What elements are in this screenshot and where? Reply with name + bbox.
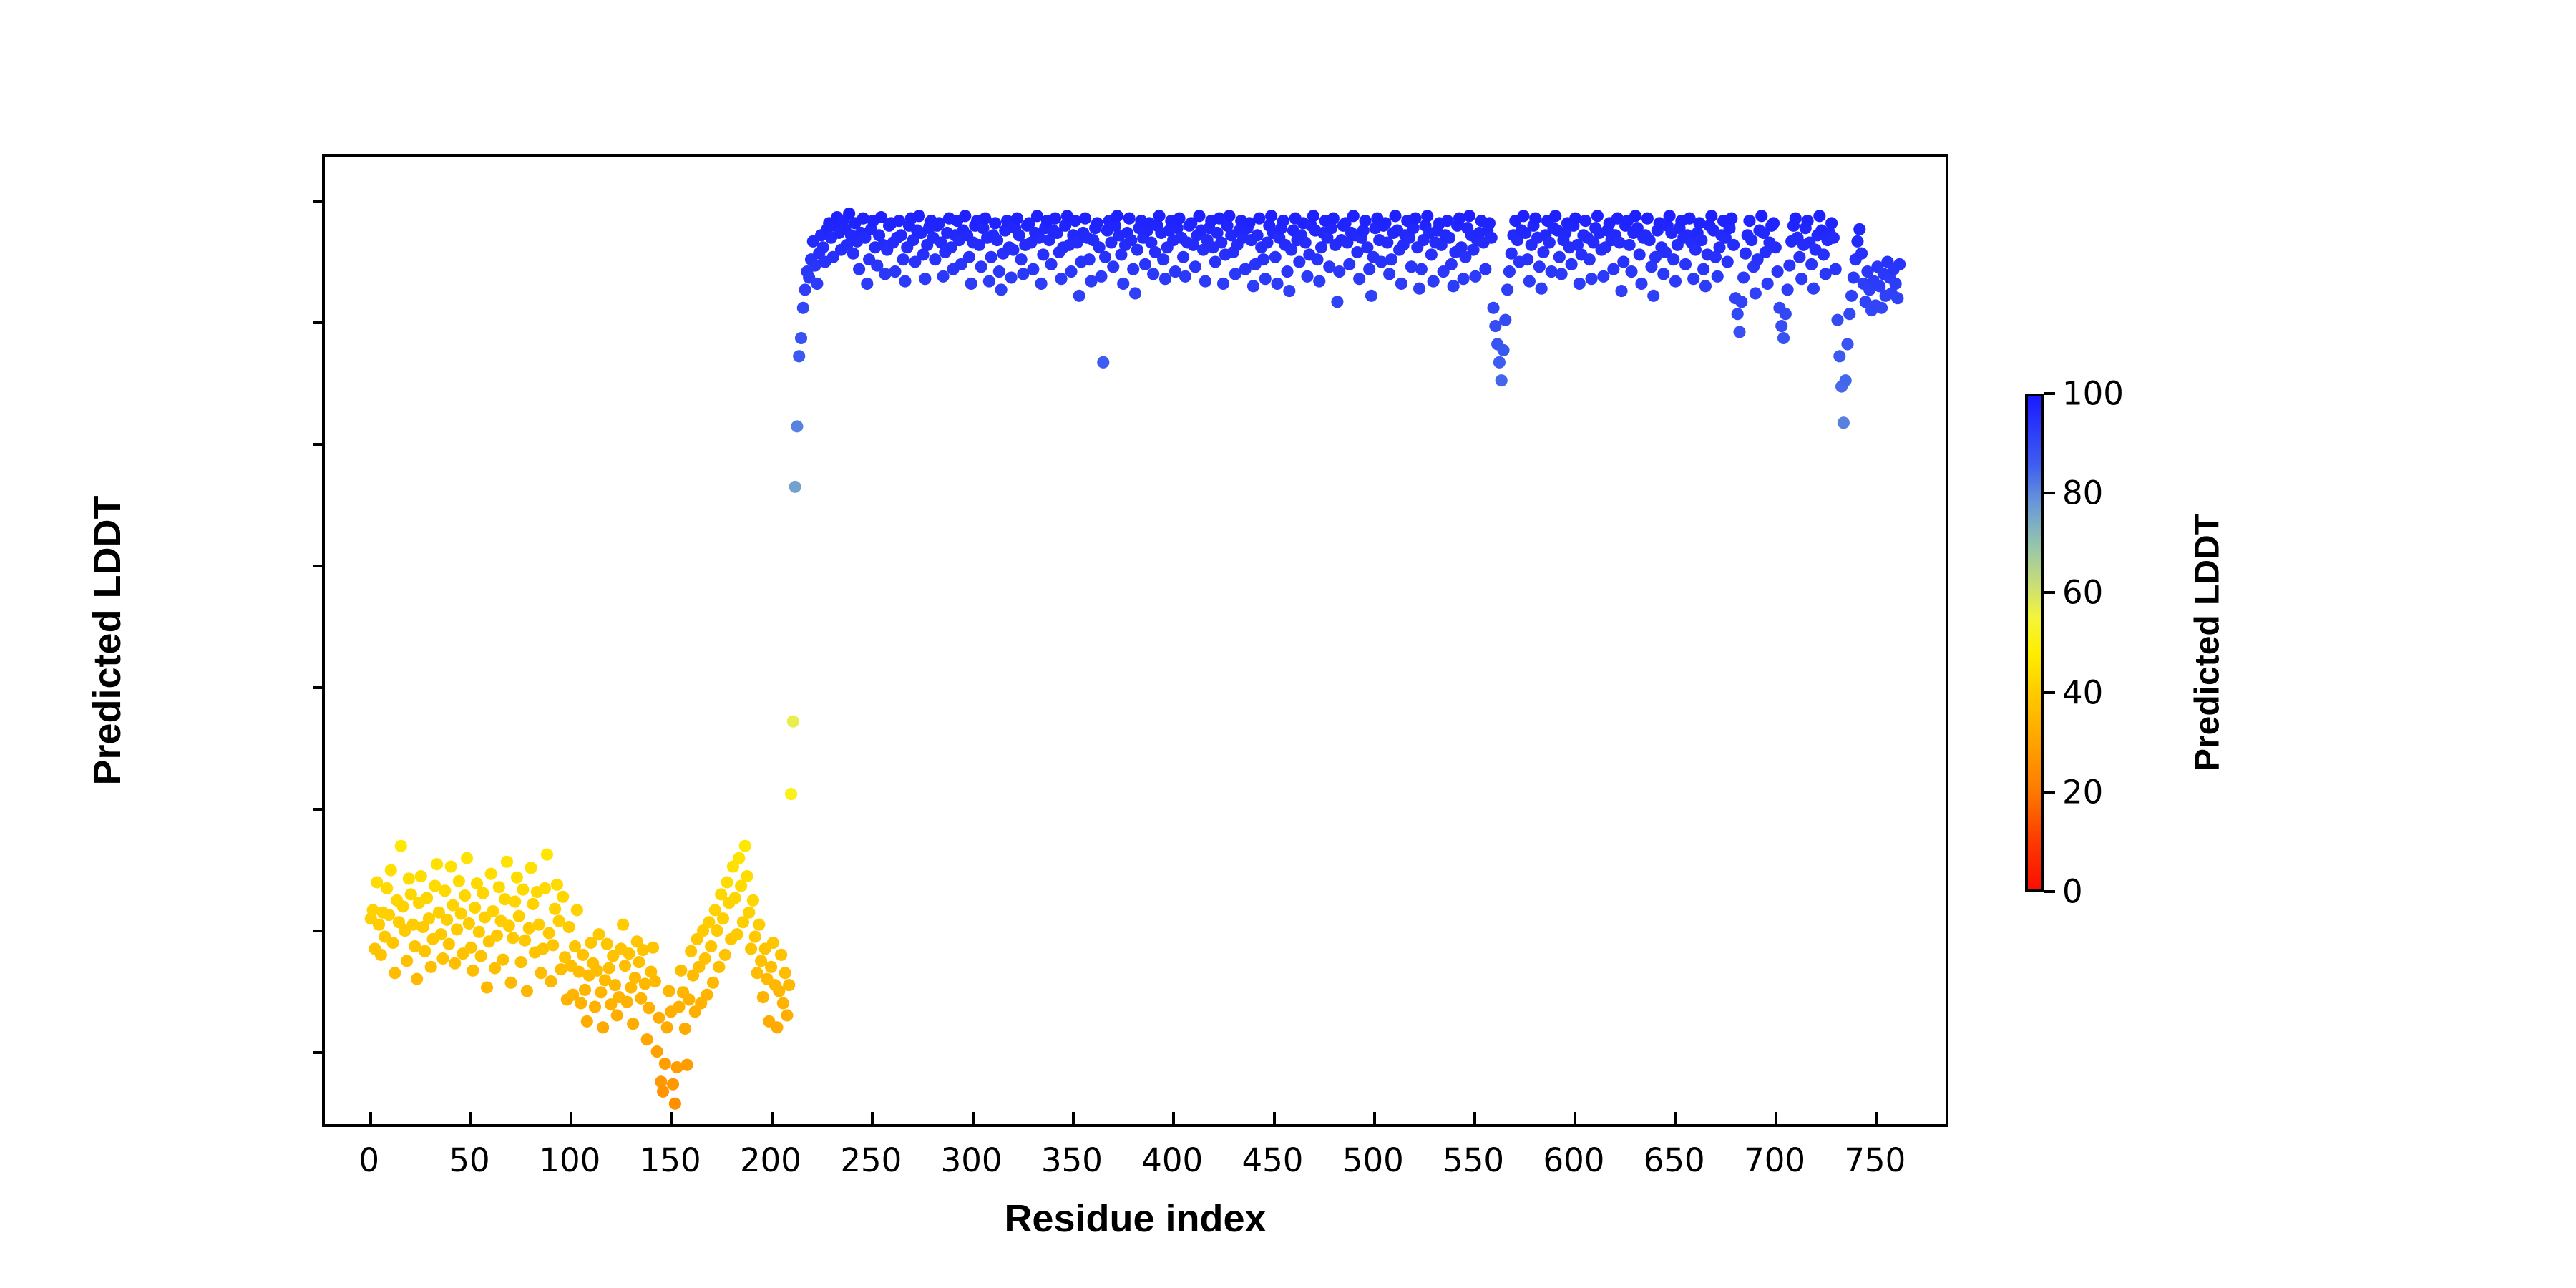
colorbar-tick-label: 0 xyxy=(2062,873,2083,911)
plot-axes: 30405060708090100 0501001502002503003504… xyxy=(322,154,1948,1127)
x-tick-label: 400 xyxy=(1141,1141,1203,1179)
x-tick-label: 450 xyxy=(1242,1141,1304,1179)
pldddt-scatter-figure: 30405060708090100 0501001502002503003504… xyxy=(0,0,2576,1288)
x-tick-label: 350 xyxy=(1041,1141,1103,1179)
x-tick-label: 100 xyxy=(539,1141,600,1179)
x-tick-label: 300 xyxy=(941,1141,1002,1179)
y-tick-mark xyxy=(313,808,325,811)
colorbar-tick-label: 20 xyxy=(2062,773,2103,811)
x-tick-label: 700 xyxy=(1744,1141,1805,1179)
y-tick-mark xyxy=(313,200,325,203)
x-tick-label: 600 xyxy=(1543,1141,1604,1179)
colorbar-tick-label: 40 xyxy=(2062,673,2103,711)
y-tick-mark xyxy=(313,321,325,324)
x-tick-label: 750 xyxy=(1844,1141,1906,1179)
y-tick-mark xyxy=(313,443,325,446)
x-tick-label: 150 xyxy=(640,1141,701,1179)
colorbar-tick-mark xyxy=(2044,691,2055,694)
x-tick-label: 550 xyxy=(1443,1141,1504,1179)
colorbar-tick-label: 100 xyxy=(2062,375,2124,413)
colorbar: 020406080100 xyxy=(2025,394,2044,892)
x-tick-label: 250 xyxy=(840,1141,902,1179)
x-tick-label: 500 xyxy=(1342,1141,1404,1179)
colorbar-tick-mark xyxy=(2044,591,2055,594)
colorbar-tick-mark xyxy=(2044,492,2055,494)
x-axis-label: Residue index xyxy=(322,1196,1948,1241)
colorbar-tick-mark xyxy=(2044,890,2055,893)
x-tick-label: 200 xyxy=(740,1141,801,1179)
colorbar-title: Predicted LDDT xyxy=(2188,514,2228,771)
x-tick-label: 650 xyxy=(1644,1141,1705,1179)
colorbar-tick-layer: 020406080100 xyxy=(2025,394,2044,892)
colorbar-tick-label: 80 xyxy=(2062,474,2103,512)
x-tick-label: 0 xyxy=(358,1141,379,1179)
colorbar-tick-mark xyxy=(2044,791,2055,794)
colorbar-tick-mark xyxy=(2044,392,2055,395)
colorbar-tick-label: 60 xyxy=(2062,574,2103,612)
scatter-points-layer xyxy=(325,157,1946,1124)
x-tick-label: 50 xyxy=(449,1141,489,1179)
y-tick-mark xyxy=(313,686,325,689)
y-axis-label: Predicted LDDT xyxy=(85,495,130,785)
y-tick-mark xyxy=(313,565,325,567)
y-tick-mark xyxy=(313,930,325,932)
y-tick-mark xyxy=(313,1051,325,1054)
